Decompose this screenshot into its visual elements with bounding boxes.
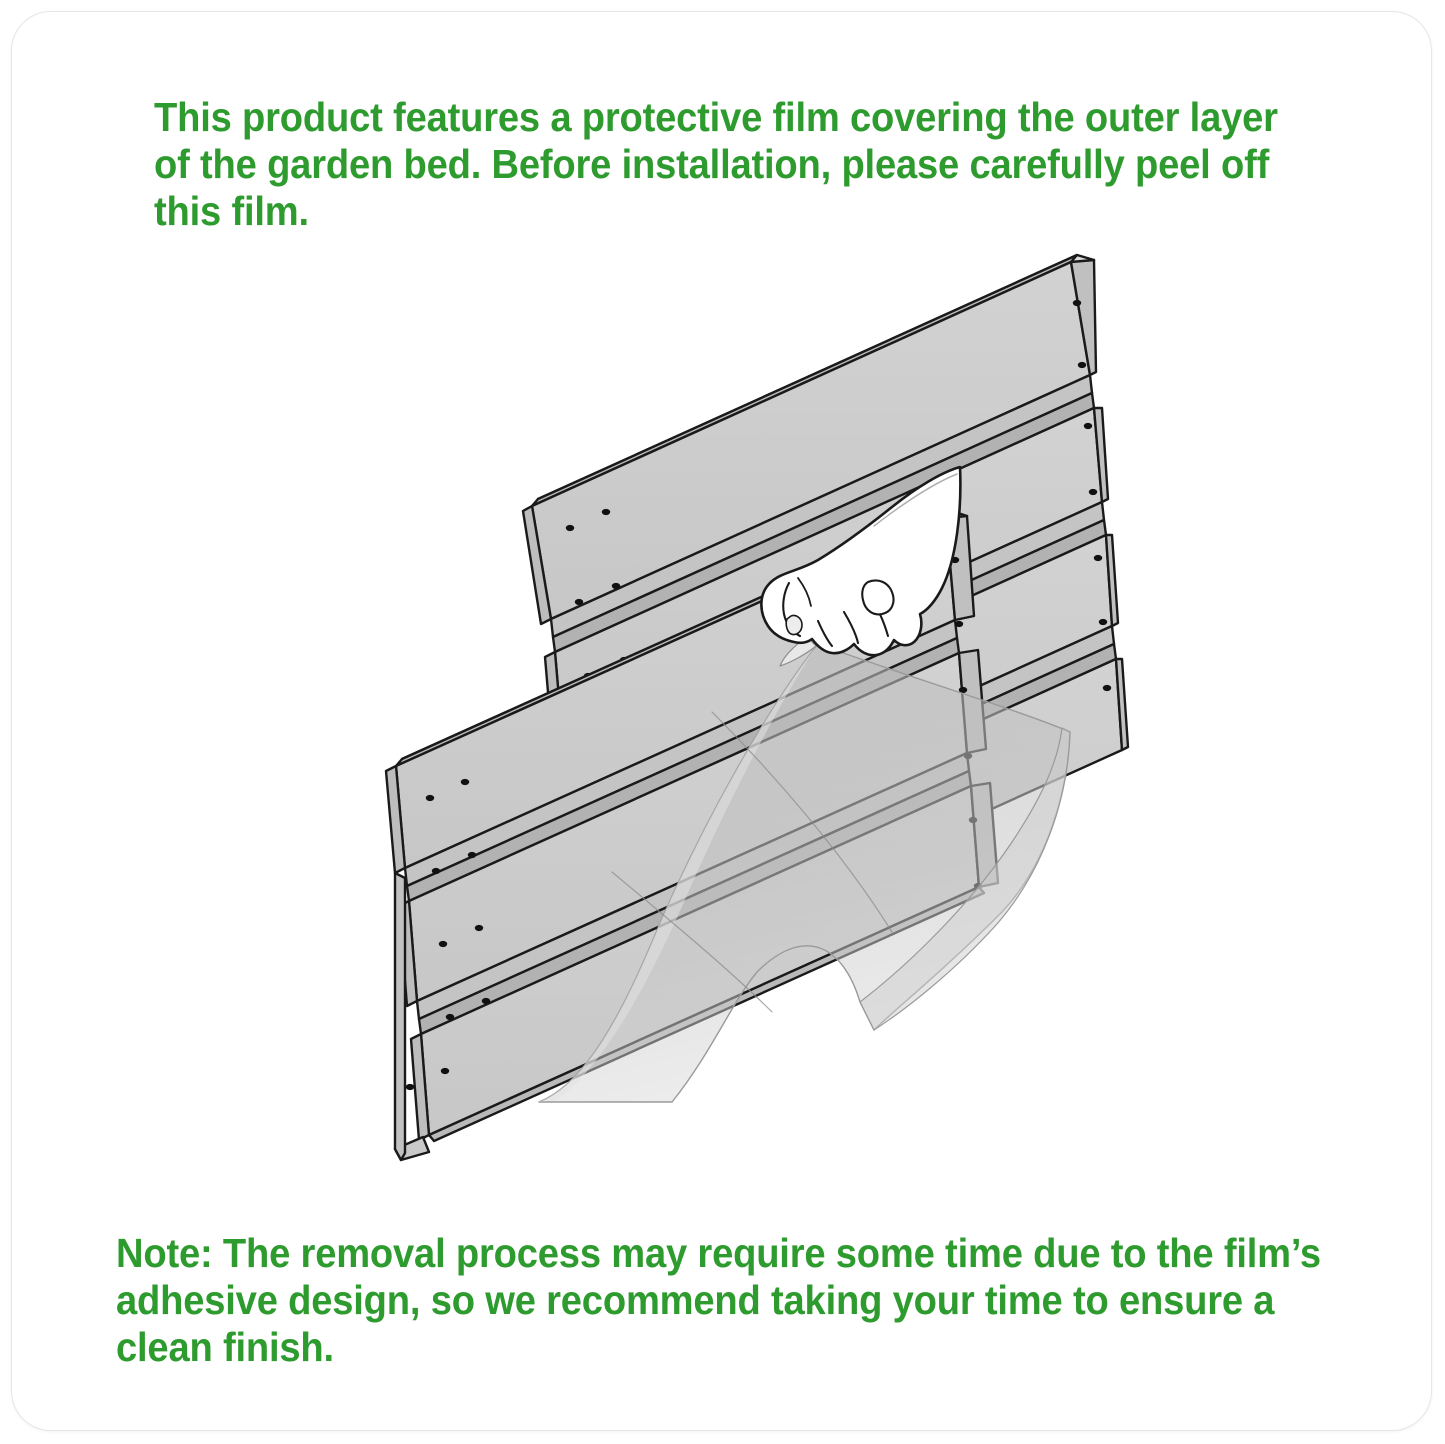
lower-panel-band bbox=[399, 650, 986, 1006]
upper-panel-band bbox=[545, 408, 1108, 751]
upper-panel-rib bbox=[551, 375, 1094, 652]
lower-panel-band bbox=[386, 516, 974, 873]
hand-and-forearm bbox=[761, 467, 960, 655]
page-title: This product features a protective film … bbox=[154, 94, 1317, 235]
screw-hole bbox=[566, 509, 628, 679]
upper-panel-rib bbox=[563, 502, 1106, 779]
instruction-card: This product features a protective film … bbox=[11, 11, 1432, 1431]
lower-panel-rib bbox=[417, 753, 971, 1034]
upper-panel-band bbox=[557, 535, 1118, 875]
lower-panel-assembly bbox=[386, 511, 998, 1160]
note-text: Note: The removal process may require so… bbox=[116, 1230, 1334, 1371]
upper-panel-assembly bbox=[523, 255, 1128, 994]
screw-hole bbox=[406, 779, 490, 1090]
upper-panel-band bbox=[523, 255, 1096, 624]
protective-film-sheet bbox=[539, 637, 1070, 1102]
screw-hole bbox=[951, 557, 982, 889]
diagram-root bbox=[386, 255, 1128, 1160]
upper-panel-rib bbox=[573, 626, 1116, 903]
screw-hole bbox=[1073, 300, 1111, 691]
upper-panel-band bbox=[577, 659, 1128, 994]
lower-panel-band bbox=[411, 783, 998, 1140]
lower-panel-rib bbox=[405, 620, 959, 901]
film-crease-lines bbox=[612, 712, 892, 1012]
